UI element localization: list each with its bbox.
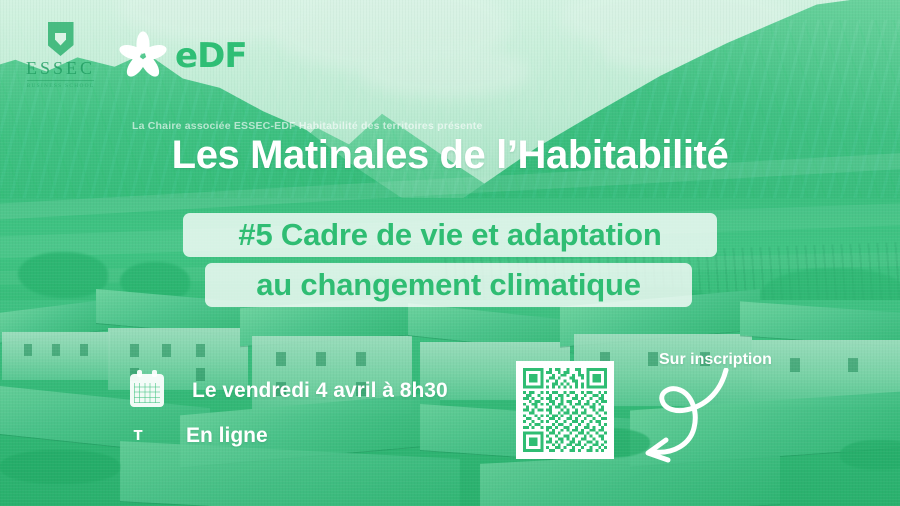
essec-logo-name: ESSEC: [26, 59, 95, 77]
essec-logo: ESSEC BUSINESS SCHOOL: [26, 22, 95, 89]
event-poster: ESSEC BUSINESS SCHOOL eDF La Chaire asso…: [0, 0, 900, 506]
registration-qr-code[interactable]: [516, 361, 614, 459]
event-mode-row: T En ligne: [130, 424, 268, 448]
event-mode-label: En ligne: [186, 424, 268, 448]
event-date-row: Le vendredi 4 avril à 8h30: [130, 374, 448, 407]
calendar-icon: [130, 374, 164, 407]
session-subject-line-2: au changement climatique: [205, 263, 692, 307]
chair-presenter-line: La Chaire associée ESSEC-EDF Habitabilit…: [132, 120, 483, 132]
logo-bar: ESSEC BUSINESS SCHOOL eDF: [26, 22, 247, 89]
registration-cta-label: Sur inscription: [659, 351, 772, 369]
page-title: Les Matinales de l’Habitabilité: [172, 133, 729, 178]
essec-logo-subtitle: BUSINESS SCHOOL: [27, 80, 95, 89]
edf-logo: eDF: [119, 32, 247, 80]
curly-arrow-icon: [620, 368, 760, 464]
essec-shield-icon: [48, 22, 74, 56]
edf-logo-text: eDF: [175, 39, 247, 73]
t-icon: T: [130, 426, 146, 446]
qr-code-icon: [523, 368, 607, 452]
edf-pinwheel-icon: [119, 32, 167, 80]
poster-content: ESSEC BUSINESS SCHOOL eDF La Chaire asso…: [0, 0, 900, 506]
session-subject-line-1: #5 Cadre de vie et adaptation: [183, 213, 717, 257]
event-date-label: Le vendredi 4 avril à 8h30: [192, 379, 448, 403]
